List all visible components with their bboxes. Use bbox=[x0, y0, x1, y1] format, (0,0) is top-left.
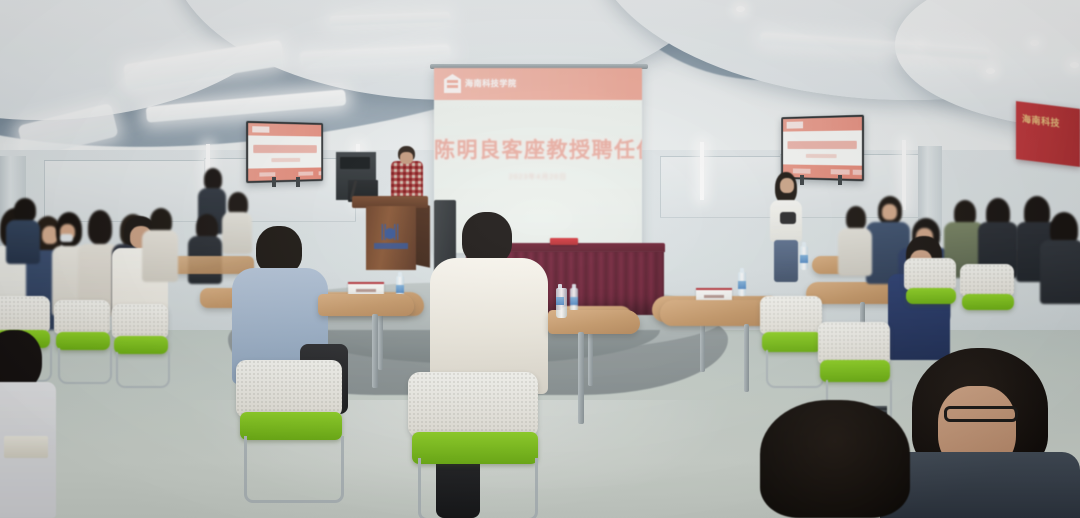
red-hanging-banner: 海南科技 bbox=[1016, 101, 1080, 167]
podium-emblem-icon bbox=[378, 224, 402, 240]
tv-right-date-text bbox=[805, 154, 837, 158]
chair-right-4-seat bbox=[962, 294, 1014, 310]
standing-back-left-2-top bbox=[222, 212, 252, 254]
chair-left-2-back bbox=[54, 300, 110, 334]
table-right-1-leg bbox=[744, 324, 749, 392]
table-stage-right-leg bbox=[700, 320, 705, 372]
fg-white-hair bbox=[462, 212, 512, 264]
chair-left-2-frame bbox=[58, 348, 112, 384]
water-bottle-2 bbox=[738, 272, 746, 296]
fg-clapping-shirt bbox=[880, 452, 1080, 518]
podium-name-text bbox=[374, 243, 408, 249]
tv-right-footer bbox=[783, 165, 862, 179]
audience-back-r1-top bbox=[838, 228, 872, 276]
standing-back-left-hair bbox=[204, 168, 222, 190]
tv-right-title-text bbox=[787, 141, 856, 150]
red-banner-text: 海南科技 bbox=[1022, 114, 1060, 130]
chair-right-1-frame bbox=[766, 350, 824, 388]
chair-left-3-frame bbox=[116, 352, 170, 388]
projection-screen-date: 2023年4月20日 bbox=[434, 172, 642, 182]
fg-blue-hair bbox=[256, 226, 302, 274]
audience-r1-face bbox=[882, 204, 897, 220]
chair-right-2-back bbox=[818, 322, 890, 364]
podium-side bbox=[414, 202, 430, 267]
tv-left-date-text bbox=[271, 158, 300, 162]
wall-panel-3 bbox=[660, 156, 782, 218]
standing-woman-face bbox=[780, 178, 794, 193]
standing-woman-held-item bbox=[780, 212, 796, 224]
tv-left-bracket-2 bbox=[296, 177, 300, 187]
downlight-2 bbox=[1070, 62, 1079, 68]
audience-l8-hair bbox=[14, 198, 36, 222]
notebook bbox=[4, 436, 48, 458]
chair-right-3-seat bbox=[906, 288, 956, 304]
tv-left-header bbox=[248, 123, 321, 137]
chair-left-1-back bbox=[0, 296, 50, 332]
chair-right-1-back bbox=[760, 296, 822, 334]
eyeglasses-icon bbox=[944, 406, 1018, 422]
table-stage-left-leg bbox=[378, 314, 383, 370]
wall-display-left bbox=[246, 121, 323, 183]
presenter-face bbox=[400, 152, 413, 164]
standing-woman-jeans bbox=[774, 240, 798, 282]
tv-left-title-text bbox=[253, 145, 317, 153]
tv-right-header bbox=[783, 117, 862, 132]
audience-l8-top bbox=[6, 220, 40, 264]
wall-strip-light-4 bbox=[902, 140, 906, 210]
water-bottle-4 bbox=[570, 288, 578, 312]
chair-fg-blue-frame bbox=[244, 436, 344, 503]
chair-right-4-back bbox=[960, 264, 1014, 296]
tablet-desk-center-left bbox=[318, 294, 414, 316]
chair-left-3-back bbox=[112, 304, 168, 338]
downlight-5 bbox=[736, 6, 745, 12]
fg-woman-right-hair bbox=[760, 400, 910, 518]
water-bottle-3 bbox=[800, 246, 808, 270]
water-bottle-foreground bbox=[556, 288, 567, 318]
chair-right-3-back bbox=[904, 258, 956, 290]
audience-l4-hair bbox=[88, 210, 112, 244]
audience-back-r1-hair bbox=[846, 206, 866, 230]
audience-r6-top bbox=[1040, 240, 1080, 304]
chair-right-2-seat bbox=[820, 360, 890, 382]
lecture-hall-photo: 海南科技学院 陈明良客座教授聘任仪式 2023年4月20日 海南科技 bbox=[0, 0, 1080, 518]
projection-screen-title: 陈明良客座教授聘任仪式 bbox=[434, 134, 642, 164]
audience-l7-top bbox=[142, 230, 178, 282]
university-logo: 海南科技学院 bbox=[444, 74, 517, 93]
chair-fg-white-back bbox=[408, 372, 538, 438]
tv-left-footer bbox=[248, 168, 321, 181]
downlight-1 bbox=[1030, 40, 1039, 46]
certificate-folder bbox=[550, 238, 578, 245]
chair-right-1-seat bbox=[762, 332, 822, 352]
wall-display-right bbox=[781, 115, 864, 182]
chair-fg-white-frame bbox=[418, 458, 538, 518]
tv-left-bracket bbox=[272, 177, 276, 187]
projection-screen-header-band: 海南科技学院 bbox=[434, 68, 642, 100]
downlight-3 bbox=[986, 68, 995, 74]
audience-l3-face-mask bbox=[60, 234, 73, 242]
university-logo-mark bbox=[444, 74, 461, 93]
wall-strip-light-3 bbox=[700, 142, 704, 200]
chair-fg-blue-back bbox=[236, 360, 342, 418]
tablet-desk-center-left-leg bbox=[372, 314, 378, 388]
tv-right-bracket-2 bbox=[838, 175, 842, 185]
tv-right-bracket bbox=[800, 175, 804, 185]
tablet-desk-center-right-leg bbox=[578, 332, 584, 424]
university-logo-text: 海南科技学院 bbox=[465, 79, 517, 89]
